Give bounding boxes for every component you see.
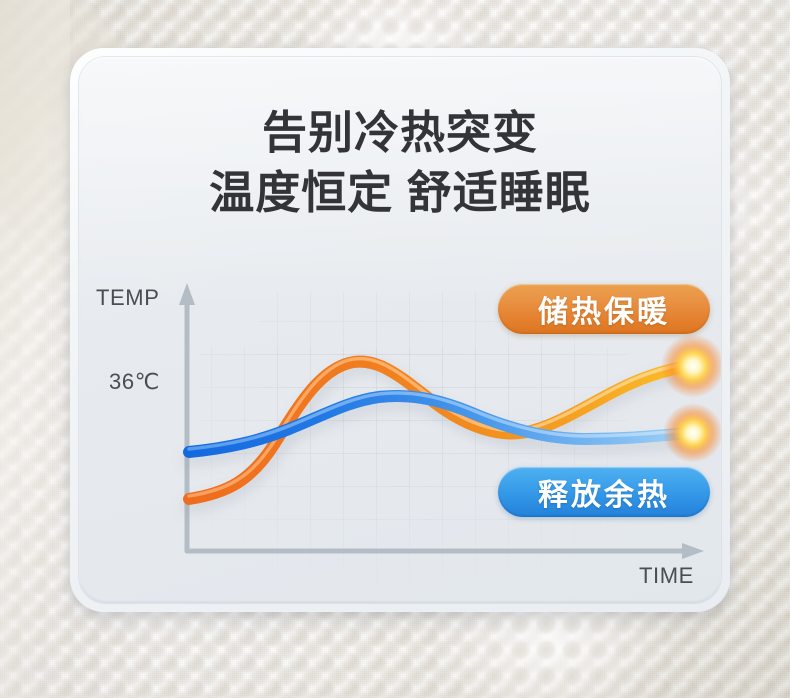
badge-heat-release-label: 释放余热 [538,470,670,514]
headline-line-1: 告别冷热突变 [79,103,721,163]
info-card-inner-panel: 告别冷热突变 温度恒定 舒适睡眠 [79,57,721,603]
headline-line-2: 温度恒定 舒适睡眠 [79,163,721,223]
y-axis-label: TEMP [96,285,160,311]
x-axis-label: TIME [639,563,694,589]
headline: 告别冷热突变 温度恒定 舒适睡眠 [79,103,721,223]
glow-dot-warm [661,334,721,398]
badge-heat-storage[interactable]: 储热保暖 [498,284,710,334]
info-card: 告别冷热突变 温度恒定 舒适睡眠 [70,48,730,612]
badge-heat-release[interactable]: 释放余热 [498,467,710,517]
badge-heat-storage-label: 储热保暖 [538,287,670,331]
glow-dot-release [663,403,721,463]
y-axis-tick-label: 36℃ [109,369,160,395]
product-infographic-stage: 告别冷热突变 温度恒定 舒适睡眠 [0,0,790,698]
